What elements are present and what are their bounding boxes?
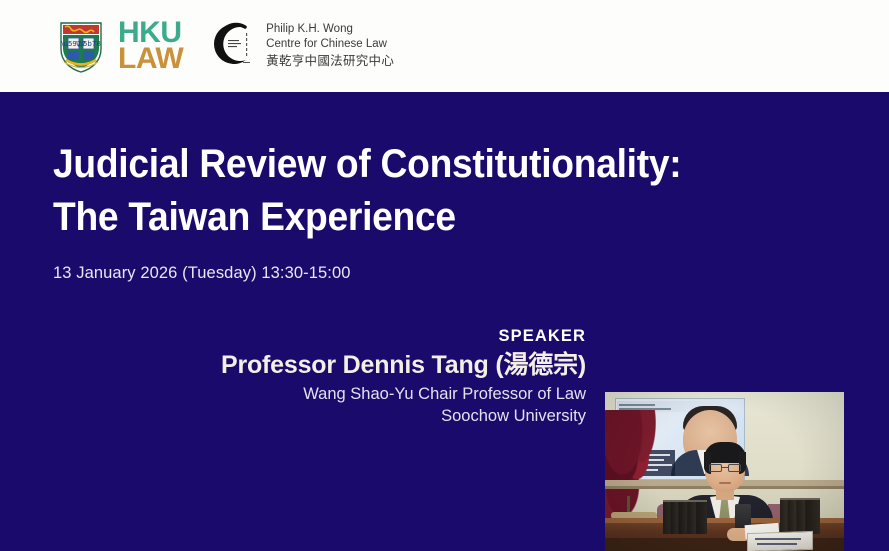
centre-line-2: Centre for Chinese Law — [266, 37, 394, 53]
speaker-name: Professor Dennis Tang (湯德宗) — [186, 348, 586, 383]
speaker-role-line-2: Soochow University — [186, 406, 586, 428]
logo-row: \u5927 \u5b78 HKU LAW — [58, 17, 394, 76]
speaker-photo — [605, 392, 844, 551]
speaker-role-line-1: Wang Shao-Yu Chair Professor of Law — [186, 384, 586, 406]
speaker-label: SPEAKER — [186, 326, 586, 347]
enso-circle-icon — [205, 17, 257, 76]
centre-for-chinese-law-logo: Philip K.H. Wong Centre for Chinese Law … — [205, 17, 394, 76]
centre-line-1: Philip K.H. Wong — [266, 22, 394, 38]
centre-name-text: Philip K.H. Wong Centre for Chinese Law … — [266, 22, 394, 71]
law-word: LAW — [118, 46, 183, 72]
svg-text:\u5b78: \u5b78 — [76, 40, 101, 48]
speaker-block: SPEAKER Professor Dennis Tang (湯德宗) Wang… — [186, 326, 586, 428]
header-banner: \u5927 \u5b78 HKU LAW — [0, 0, 889, 92]
hku-law-wordmark: HKU LAW — [118, 20, 183, 72]
centre-line-3-chinese: 黃乾亨中國法研究中心 — [266, 53, 394, 70]
event-datetime: 13 January 2026 (Tuesday) 13:30-15:00 — [53, 264, 351, 283]
hku-crest-icon: \u5927 \u5b78 — [58, 19, 104, 73]
photo-vignette — [605, 392, 844, 551]
poster-body: Judicial Review of Constitutionality: Th… — [0, 92, 889, 500]
page-title: Judicial Review of Constitutionality: Th… — [53, 138, 788, 244]
